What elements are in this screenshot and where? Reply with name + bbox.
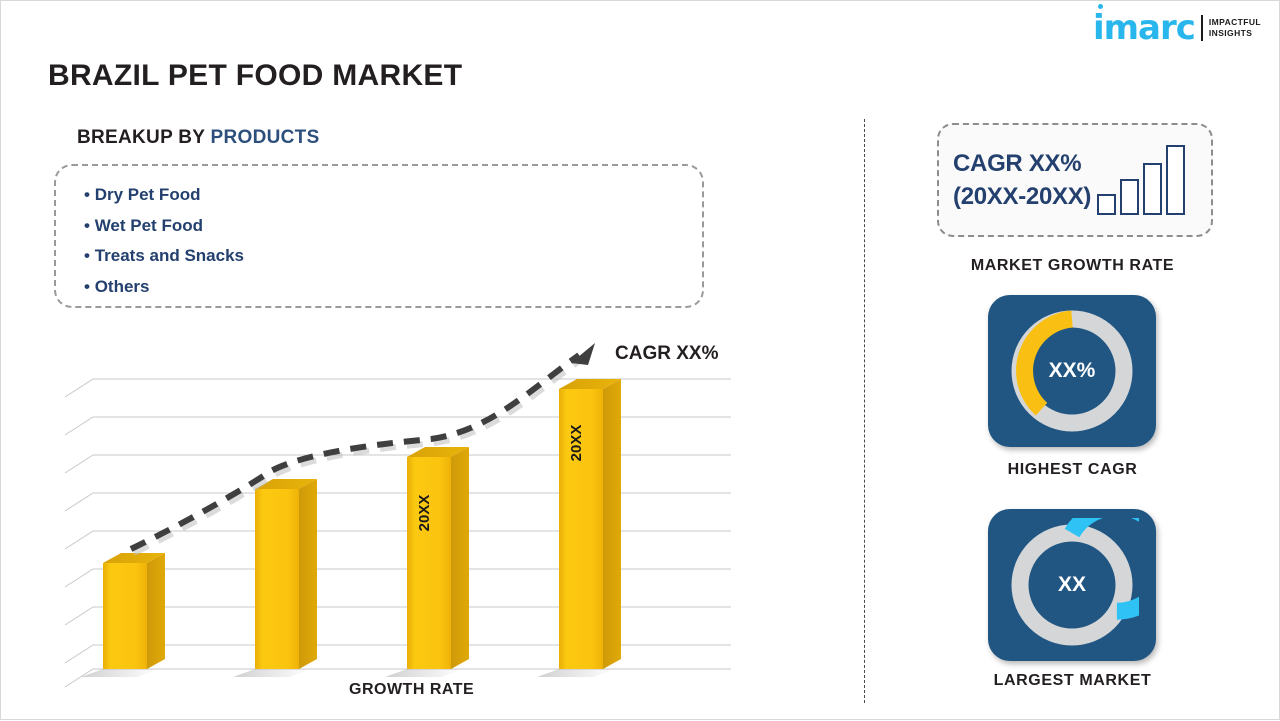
section-subtitle: BREAKUP BY PRODUCTS	[77, 127, 320, 149]
largest-market-label: LARGEST MARKET	[864, 672, 1280, 690]
right-panel: MARKET GROWTH RATE XX% HIGHEST CAGR XX L…	[864, 1, 1280, 721]
largest-market-value: XX	[1058, 573, 1086, 597]
highest-cagr-label: HIGHEST CAGR	[864, 461, 1280, 479]
growth-rate-chart: 20XX 20XX	[59, 331, 759, 691]
bar-3-label: 20XX	[416, 495, 433, 532]
chart-svg: 20XX 20XX	[59, 331, 759, 691]
page-title: BRAZIL PET FOOD MARKET	[48, 59, 462, 93]
subtitle-prefix: BREAKUP BY	[77, 127, 211, 148]
subtitle-accent: PRODUCTS	[211, 127, 320, 148]
bar-shadows	[81, 669, 615, 677]
trendline	[131, 343, 595, 553]
slide-canvas: imarc IMPACTFUL INSIGHTS BRAZIL PET FOOD…	[0, 0, 1280, 720]
list-item: Dry Pet Food	[84, 180, 702, 211]
list-item: Wet Pet Food	[84, 211, 702, 242]
bar-4: 20XX	[559, 379, 621, 669]
chart-x-axis-label: GROWTH RATE	[349, 681, 474, 699]
largest-market-tile: XX	[988, 509, 1156, 661]
list-item: Treats and Snacks	[84, 241, 702, 272]
chart-cagr-annotation: CAGR XX%	[615, 343, 718, 365]
trendline-arrow-icon	[571, 343, 595, 365]
products-list: Dry Pet Food Wet Pet Food Treats and Sna…	[56, 166, 702, 302]
highest-cagr-tile: XX%	[988, 295, 1156, 447]
bar-3: 20XX	[407, 447, 469, 669]
list-item: Others	[84, 272, 702, 303]
market-growth-rate-label: MARKET GROWTH RATE	[864, 257, 1280, 275]
bar-1	[103, 553, 165, 669]
products-breakup-box: Dry Pet Food Wet Pet Food Treats and Sna…	[54, 164, 704, 308]
bar-4-label: 20XX	[568, 425, 585, 462]
bar-2	[255, 479, 317, 669]
highest-cagr-value: XX%	[1049, 359, 1096, 383]
